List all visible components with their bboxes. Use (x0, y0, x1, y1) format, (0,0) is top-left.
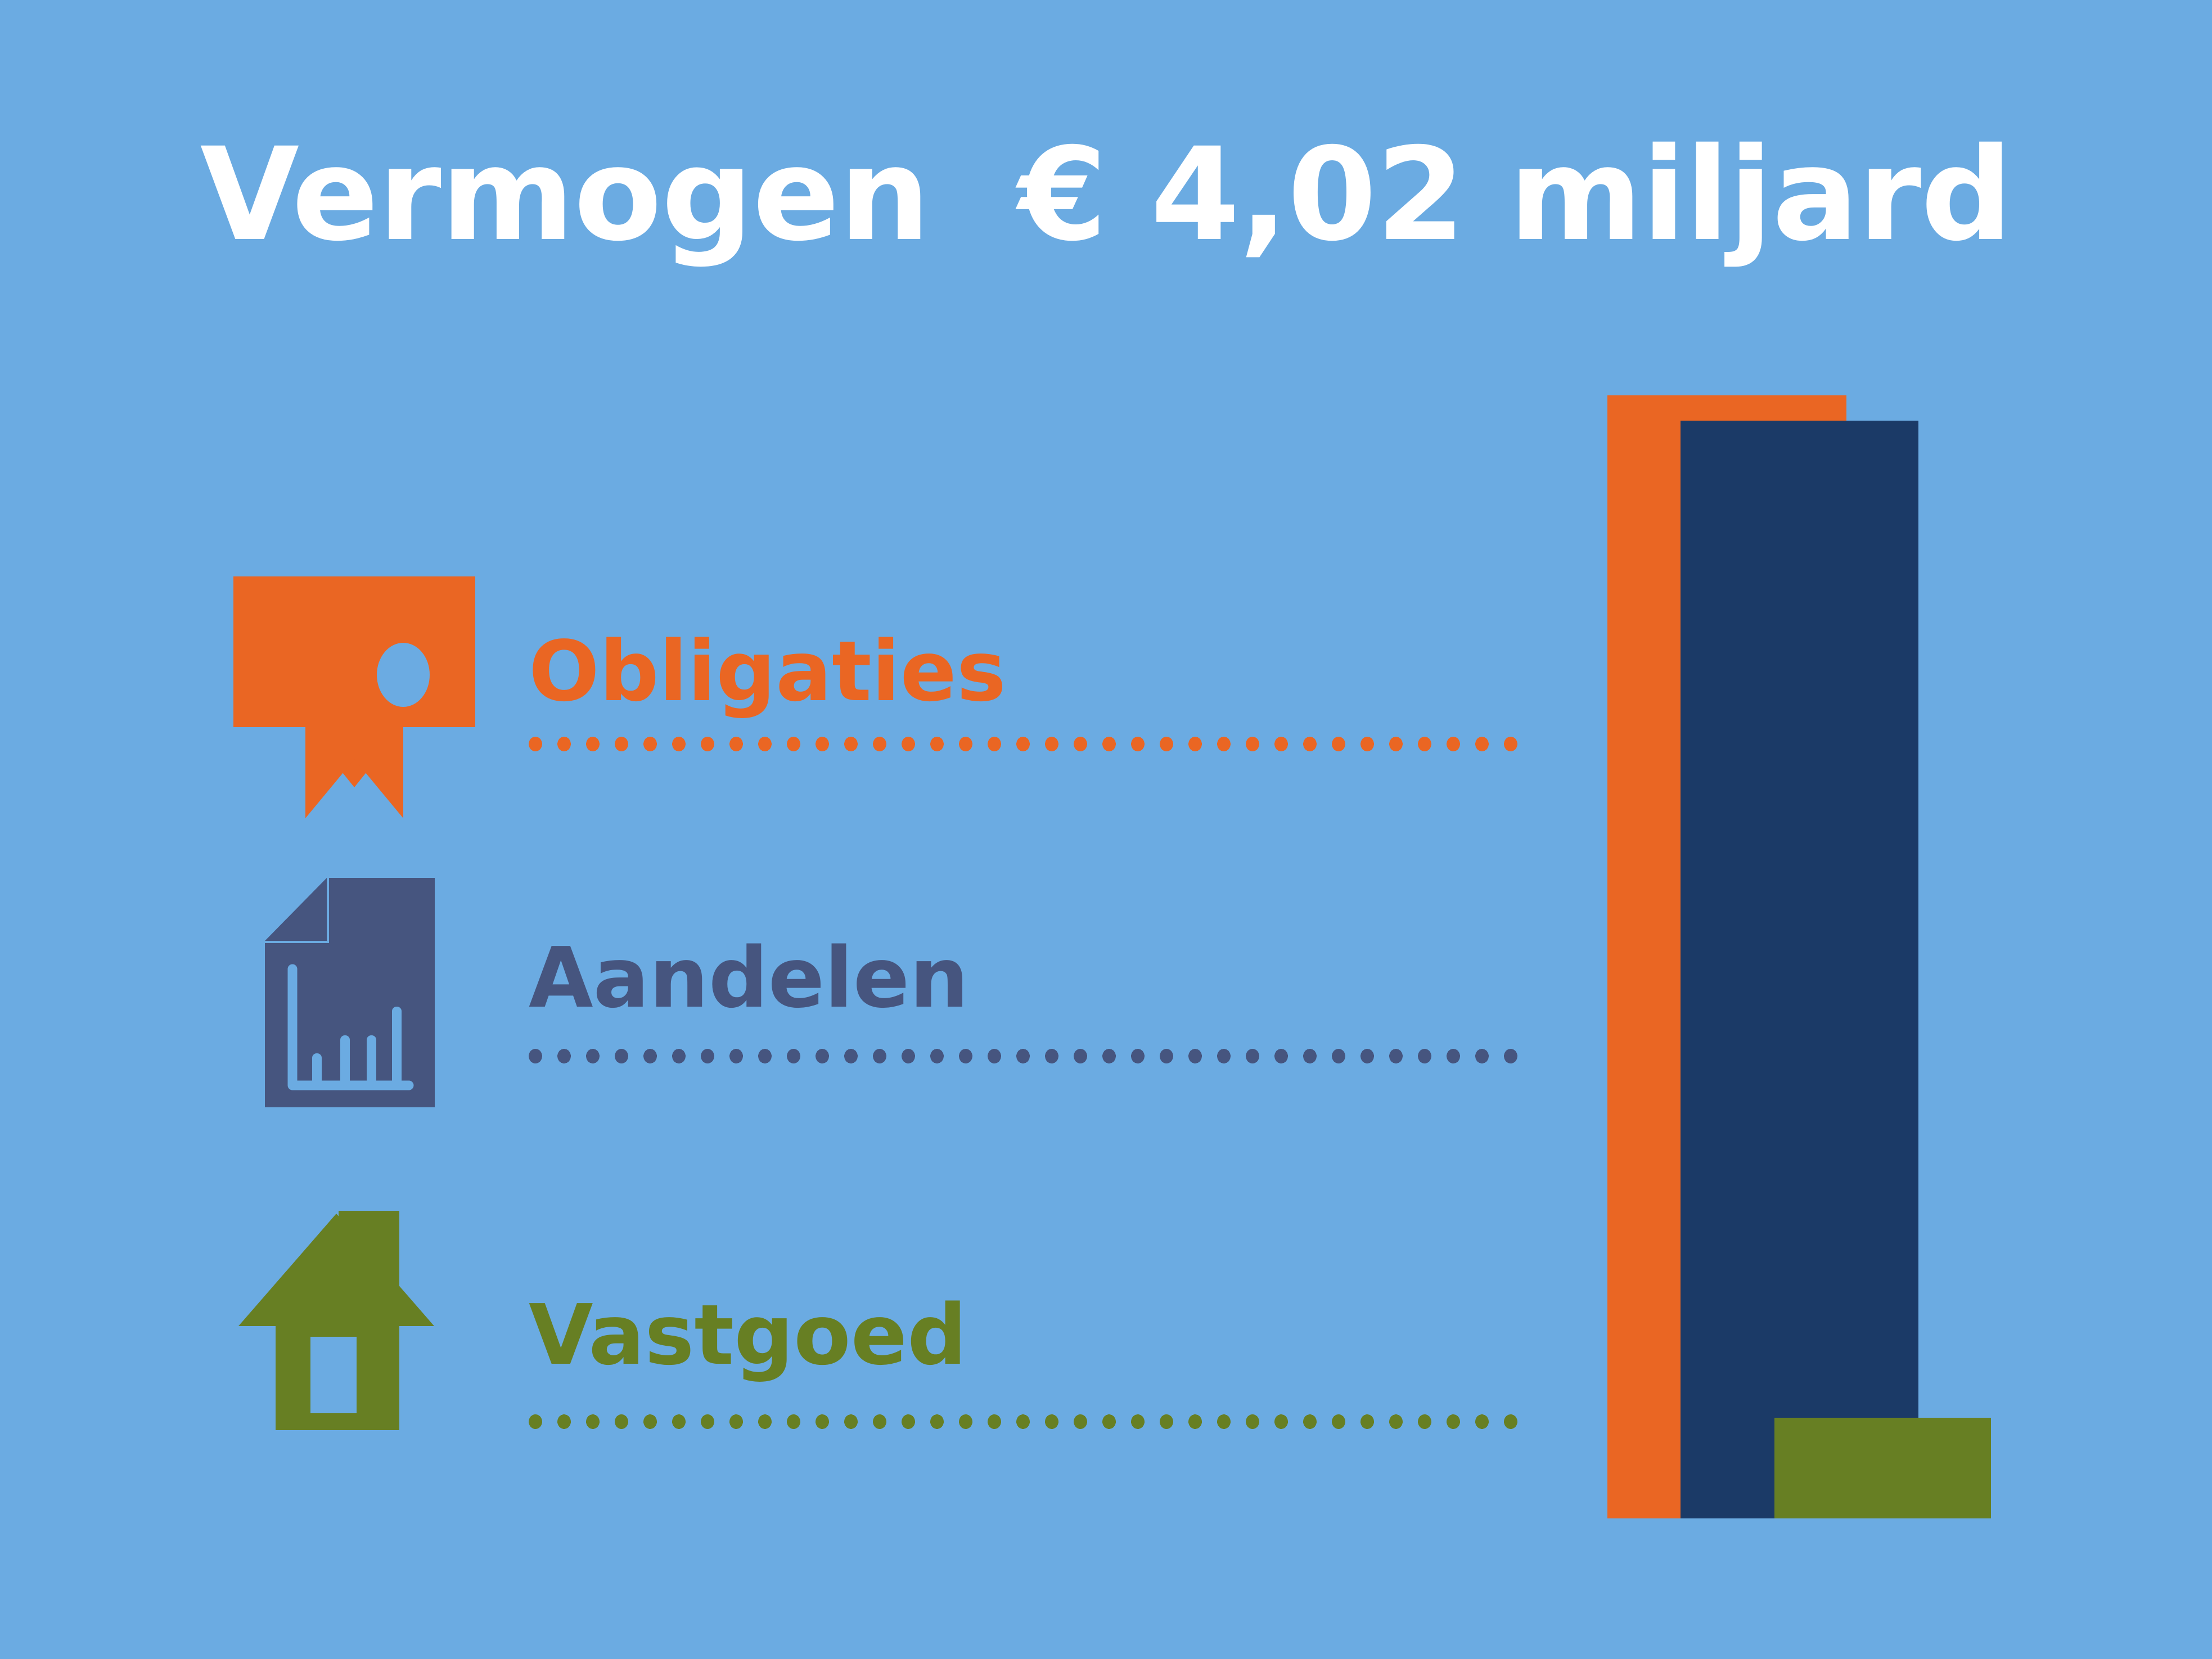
bar-chart (0, 0, 2212, 1659)
bar-vastgoed (1774, 1418, 1991, 1518)
bar-aandelen (1681, 421, 1918, 1518)
infographic-canvas: Vermogen € 4,02 miljard Obligaties (0, 0, 2212, 1659)
